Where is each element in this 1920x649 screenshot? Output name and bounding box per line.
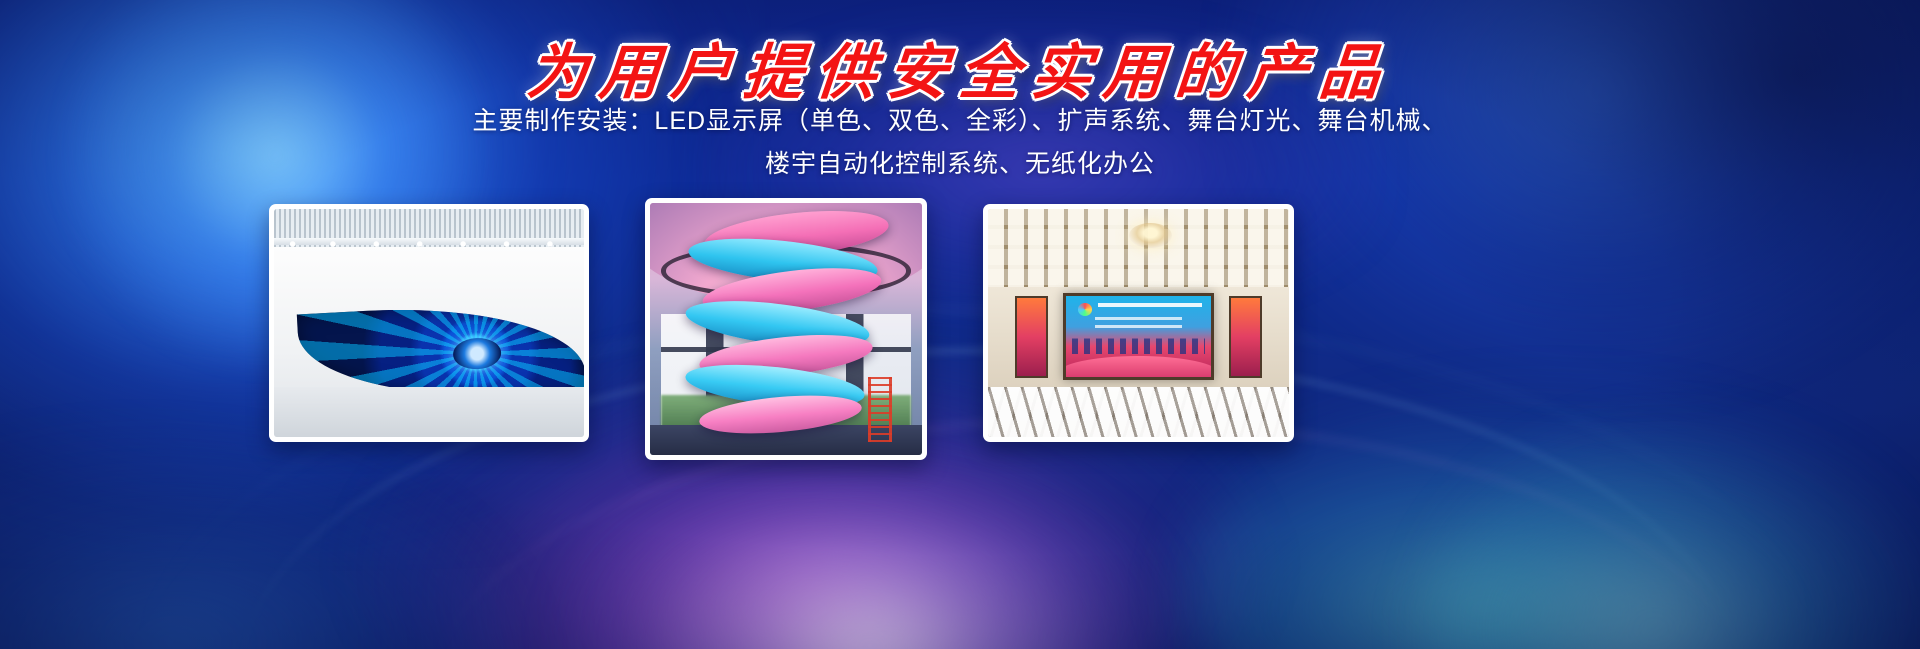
banner-subtitle-line-1: 主要制作安装：LED显示屏（单色、双色、全彩）、扩声系统、舞台灯光、舞台机械、: [0, 101, 1920, 137]
photo3-main-led-screen: [1063, 293, 1214, 380]
banner-photo-gallery: [0, 204, 1920, 464]
photo3-checker-floor: [988, 387, 1289, 437]
banner-headline: 为用户提供安全实用的产品: [0, 24, 1920, 111]
banner-subtitle-line-2: 楼宇自动化控制系统、无纸化办公: [0, 144, 1920, 180]
gallery-item-banquet-led-screen[interactable]: [983, 204, 1294, 442]
photo3-right-led-panel: [1229, 296, 1262, 378]
photo3-screen-title-bar: [1098, 303, 1202, 307]
photo3-screen-text-line-1: [1095, 317, 1182, 320]
photo3-screen-swoosh: [1063, 356, 1214, 380]
photo-spiral-led-display: [650, 203, 922, 455]
photo3-coffered-ceiling: [988, 209, 1289, 287]
photo3-screen-text-line-2: [1095, 325, 1182, 328]
gallery-item-spiral-led-display[interactable]: [645, 198, 927, 460]
photo3-screen-skyline: [1072, 337, 1205, 355]
photo-eye-led-display: [274, 209, 584, 437]
gallery-item-eye-led-display[interactable]: [269, 204, 589, 442]
photo1-floor: [274, 387, 584, 437]
photo-banquet-led-screen: [988, 209, 1289, 437]
photo2-step-ladder: [868, 377, 892, 443]
led-product-banner: 为用户提供安全实用的产品 主要制作安装：LED显示屏（单色、双色、全彩）、扩声系…: [0, 0, 1920, 649]
photo3-left-led-panel: [1015, 296, 1048, 378]
photo3-screen-logo: [1078, 303, 1092, 316]
photo3-chandelier: [1129, 223, 1171, 248]
